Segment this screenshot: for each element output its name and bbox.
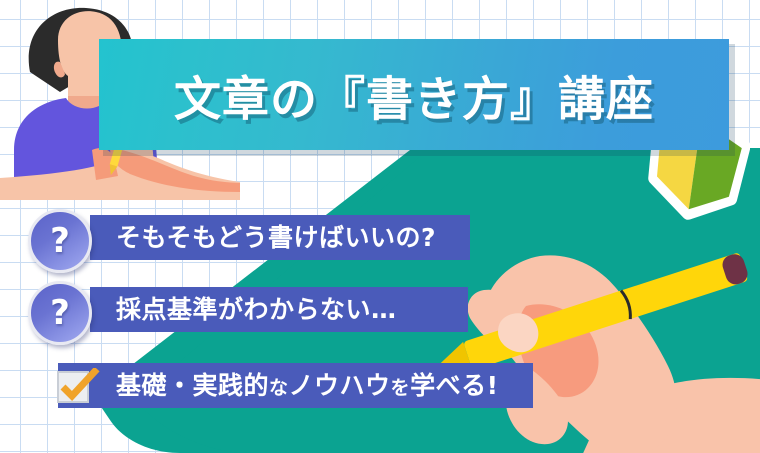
bullet-row-1: そもそもどう書けばいいの? (90, 215, 470, 260)
bullet-row-3: 基礎・実践的なノウハウを学べる! (58, 363, 533, 408)
bullet-label-2: 採点基準がわからない… (90, 297, 397, 322)
question-mark-glyph: ? (50, 296, 70, 330)
page-title: 文章の『書き方』講座 (99, 60, 729, 129)
bullet-row-2: 採点基準がわからない… (90, 287, 468, 332)
bullet-label-1: そもそもどう書けばいいの? (90, 225, 436, 250)
question-mark-glyph: ? (50, 224, 70, 258)
title-banner: 文章の『書き方』講座 (99, 39, 729, 150)
question-mark-icon-2: ? (28, 281, 92, 345)
bullet-label-3: 基礎・実践的なノウハウを学べる! (58, 373, 498, 398)
checkbox-checked-icon (56, 368, 100, 406)
poster-canvas: 文章の『書き方』講座 そもそもどう書けばいいの? ? 採点基準がわからない… ?… (0, 0, 760, 453)
question-mark-icon-1: ? (28, 209, 92, 273)
